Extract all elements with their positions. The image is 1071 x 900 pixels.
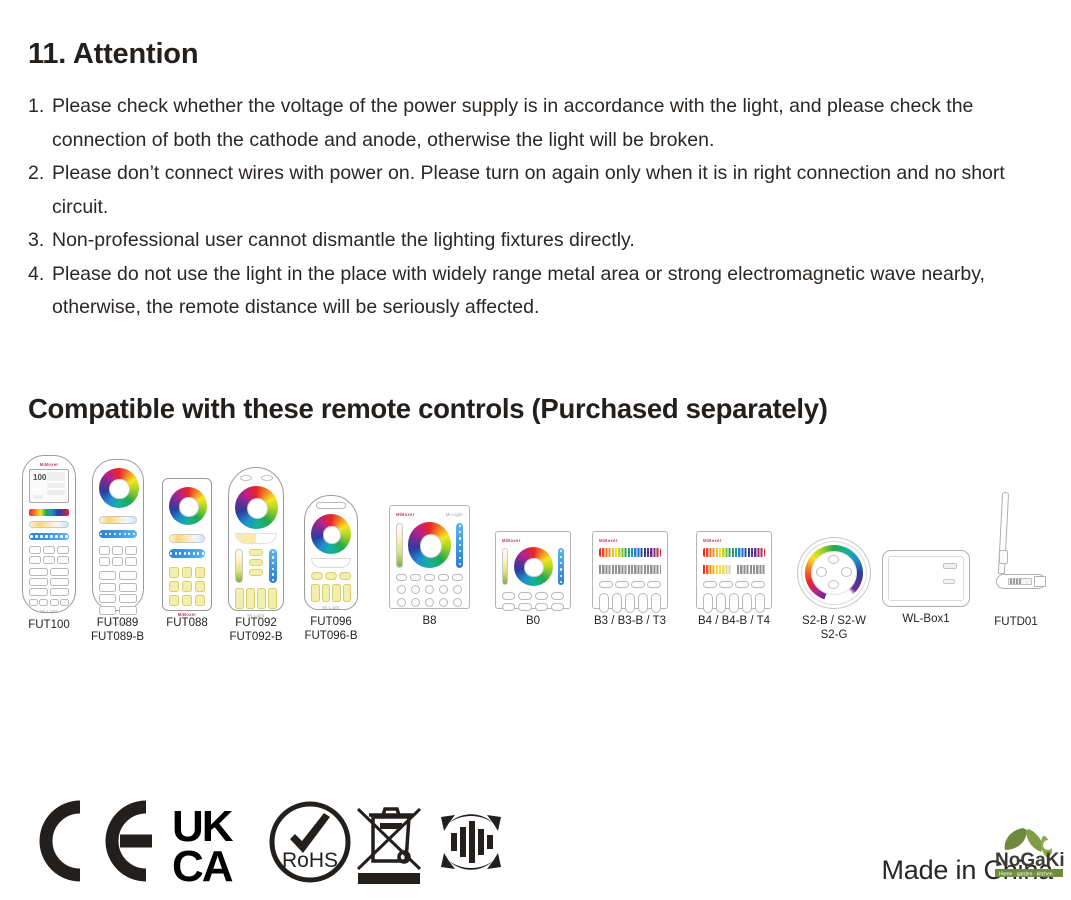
device-illustration: MiBoxer: [696, 531, 772, 609]
list-item-text: Please don’t connect wires with power on…: [52, 157, 1043, 224]
device-b8: MiBoxer Mi·Light: [389, 505, 470, 629]
device-label: FUTD01: [994, 616, 1037, 630]
weee-bar: [358, 873, 420, 884]
svg-text:RoHS: RoHS: [282, 849, 338, 872]
device-illustration: Mi·Light: [92, 459, 144, 611]
device-illustration: Mi·Light: [304, 495, 358, 610]
vendor-logo-name: NoGaKi: [995, 850, 1065, 871]
device-label: B3 / B3-B / T3: [594, 615, 666, 629]
list-item-number: 4.: [28, 258, 52, 292]
list-item: 1. Please check whether the voltage of t…: [28, 90, 1043, 157]
vendor-logo: NoGaKi Home · garden · kitchen: [993, 826, 1065, 878]
device-illustration: [986, 490, 1046, 610]
list-item: 4. Please do not use the light in the pl…: [28, 258, 1043, 325]
weee-mark: [358, 809, 420, 869]
device-label: FUT096 FUT096-B: [304, 616, 357, 643]
device-b3: MiBoxer: [592, 531, 668, 629]
device-label: WL-Box1: [902, 613, 949, 627]
device-illustration: MiBoxer: [495, 531, 571, 609]
device-illustration: MiBoxer: [592, 531, 668, 609]
rf-emission-mark: [441, 814, 501, 870]
attention-list: 1. Please check whether the voltage of t…: [28, 90, 1043, 325]
list-item-text: Non-professional user cannot dismantle t…: [52, 224, 1043, 258]
list-item: 3. Non-professional user cannot dismantl…: [28, 224, 1043, 258]
device-label: B0: [526, 615, 540, 629]
device-fut088: MiBoxer FUT088: [162, 478, 212, 631]
device-label: B4 / B4-B / T4: [698, 615, 770, 629]
device-illustration: [797, 537, 871, 609]
device-fut096: Mi·Light FUT096 FUT096-B: [304, 495, 358, 643]
device-label: FUT092 FUT092-B: [229, 617, 282, 644]
device-b0: MiBoxer B0: [495, 531, 571, 629]
ukca-mark: UK CA: [172, 802, 234, 887]
device-illustration: MiBoxer: [162, 478, 212, 611]
rohs-mark: RoHS: [272, 804, 348, 880]
attention-heading: 11. Attention: [28, 38, 198, 71]
device-illustration: [882, 550, 970, 607]
device-illustration: MiBoxer Mi·Light: [389, 505, 470, 609]
list-item-text: Please do not use the light in the place…: [52, 258, 1043, 325]
device-b4: MiBoxer: [696, 531, 772, 629]
ce-mark-bars: [120, 835, 152, 848]
device-s2: S2-B / S2-W S2-G: [797, 537, 871, 642]
device-illustration: MiBoxer 100: [22, 455, 76, 613]
certification-marks: UK CA RoHS: [28, 795, 508, 890]
list-item-number: 3.: [28, 224, 52, 258]
device-futd01: FUTD01: [986, 490, 1046, 630]
device-label: B8: [422, 615, 436, 629]
list-item-number: 1.: [28, 90, 52, 124]
device-fut100: MiBoxer 100: [22, 455, 76, 633]
compatible-heading: Compatible with these remote controls (P…: [28, 393, 828, 425]
svg-text:CA: CA: [172, 842, 233, 887]
device-fut092: Mi·Light FUT092 FUT092-B: [228, 467, 284, 644]
device-wl-box1: WL-Box1: [882, 550, 970, 627]
device-illustration: Mi·Light: [228, 467, 284, 611]
manual-page: 11. Attention 1. Please check whether th…: [0, 0, 1071, 900]
device-label: FUT088: [166, 617, 208, 631]
vendor-logo-tagline: Home · garden · kitchen: [999, 872, 1053, 878]
device-fut089: Mi·Light FUT089 FUT089-B: [91, 459, 144, 644]
list-item: 2. Please don’t connect wires with power…: [28, 157, 1043, 224]
list-item-text: Please check whether the voltage of the …: [52, 90, 1043, 157]
compatible-remotes-strip: MiBoxer 100: [14, 455, 1059, 665]
list-item-number: 2.: [28, 157, 52, 191]
device-label: S2-B / S2-W S2-G: [802, 615, 866, 642]
device-label: FUT100: [28, 619, 70, 633]
